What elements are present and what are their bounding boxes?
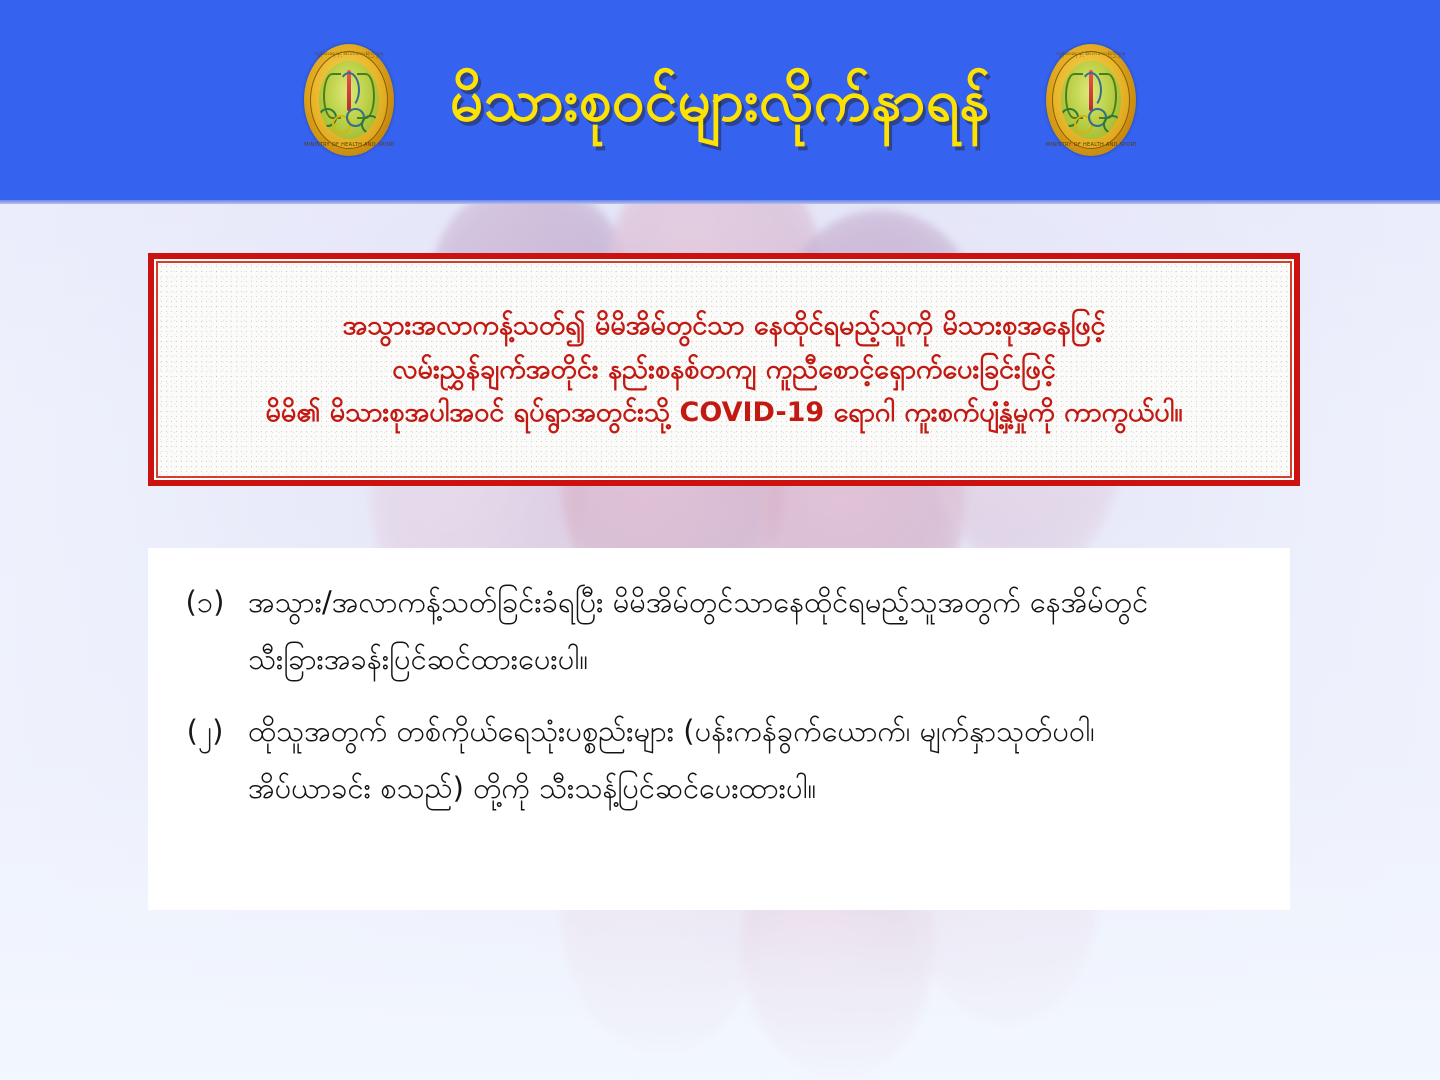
callout-line-3: မိမိ၏ မိသားစုအပါအဝင် ရပ်ရွာအတွင်းသို့ CO… xyxy=(265,391,1182,435)
list-item-number: (၂) xyxy=(162,703,248,760)
list-item-body: ထိုသူအတွက် တစ်ကိုယ်ရေသုံးပစ္စည်းများ (ပန… xyxy=(248,703,1260,816)
emblem-top-text: ကျန်းမာရေးနှင့်အားကစားဝန်ကြီးဌာန xyxy=(304,51,394,58)
list-item-number: (၁) xyxy=(162,574,248,631)
header-divider xyxy=(0,200,1440,204)
emblem-top-text: ကျန်းမာရေးနှင့်အားကစားဝန်ကြီးဌာန xyxy=(1046,51,1136,58)
callout-text: အသွားအလာကန့်သတ်၍ မိမိအိမ်တွင်သာ နေထိုင်ရ… xyxy=(247,304,1200,435)
emblem-bottom-text: MINISTRY OF HEALTH AND SPORTS xyxy=(1046,142,1136,148)
page-title: မိသားစုဝင်များလိုက်နာရန် xyxy=(394,70,1046,131)
callout-line-2: လမ်းညွှန်ချက်အတိုင်း နည်းစနစ်တကျ ကူညီစော… xyxy=(265,348,1182,392)
callout-line-1: အသွားအလာကန့်သတ်၍ မိမိအိမ်တွင်သာ နေထိုင်ရ… xyxy=(265,304,1182,348)
callout-box: အသွားအလာကန့်သတ်၍ မိမိအိမ်တွင်သာ နေထိုင်ရ… xyxy=(148,253,1300,486)
list-item-line: သီးခြားအခန်းပြင်ဆင်ထားပေးပါ။ xyxy=(248,631,1260,688)
guidance-list-panel: (၁) အသွား/အလာကန့်သတ်ခြင်းခံရပြီး မိမိအိမ… xyxy=(148,548,1290,910)
list-item-line: အသွား/အလာကန့်သတ်ခြင်းခံရပြီး မိမိအိမ်တွင… xyxy=(248,574,1260,631)
list-item: (၂) ထိုသူအတွက် တစ်ကိုယ်ရေသုံးပစ္စည်းများ… xyxy=(162,703,1260,816)
list-item-body: အသွား/အလာကန့်သတ်ခြင်းခံရပြီး မိမိအိမ်တွင… xyxy=(248,574,1260,687)
list-item-line: အိပ်ယာခင်း စသည်) တို့ကို သီးသန့်ပြင်ဆင်ပ… xyxy=(248,760,1260,817)
slide-canvas: ကျန်းမာရေးနှင့်အားကစားဝန်ကြီးဌာန MINISTR… xyxy=(0,0,1440,1080)
ministry-emblem-right-icon: ကျန်းမာရေးနှင့်အားကစားဝန်ကြီးဌာန MINISTR… xyxy=(1046,44,1136,156)
header-band: ကျန်းမာရေးနှင့်အားကစားဝန်ကြီးဌာန MINISTR… xyxy=(0,0,1440,200)
emblem-bottom-text: MINISTRY OF HEALTH AND SPORTS xyxy=(304,142,394,148)
ministry-emblem-left-icon: ကျန်းမာရေးနှင့်အားကစားဝန်ကြီးဌာန MINISTR… xyxy=(304,44,394,156)
list-item: (၁) အသွား/အလာကန့်သတ်ခြင်းခံရပြီး မိမိအိမ… xyxy=(162,574,1260,687)
list-item-line: ထိုသူအတွက် တစ်ကိုယ်ရေသုံးပစ္စည်းများ (ပန… xyxy=(248,703,1260,760)
